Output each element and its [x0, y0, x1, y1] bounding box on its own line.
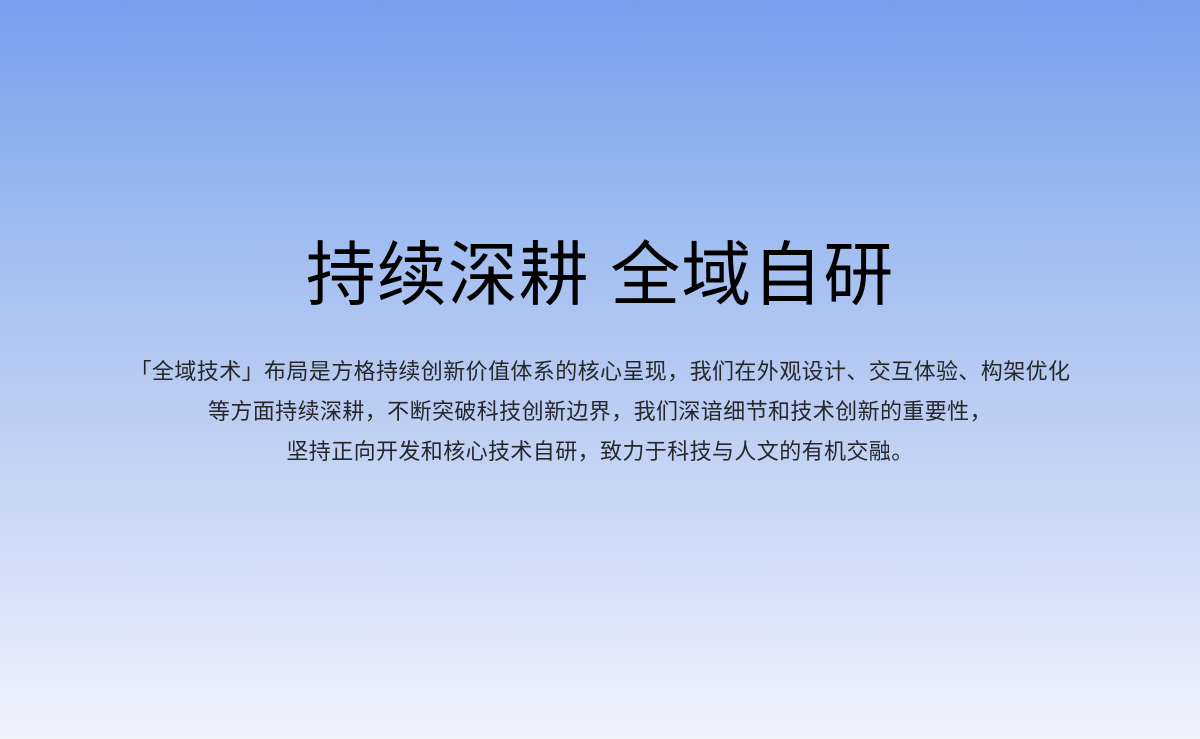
hero-description-line-2: 等方面持续深耕，不断突破科技创新边界，我们深谙细节和技术创新的重要性，	[0, 392, 1200, 432]
hero-section: 持续深耕 全域自研 「全域技术」布局是方格持续创新价值体系的核心呈现，我们在外观…	[0, 0, 1200, 739]
hero-description-line-3: 坚持正向开发和核心技术自研，致力于科技与人文的有机交融。	[0, 432, 1200, 472]
hero-description: 「全域技术」布局是方格持续创新价值体系的核心呈现，我们在外观设计、交互体验、构架…	[0, 352, 1200, 472]
page-title: 持续深耕 全域自研	[0, 240, 1200, 310]
hero-description-line-1: 「全域技术」布局是方格持续创新价值体系的核心呈现，我们在外观设计、交互体验、构架…	[0, 352, 1200, 392]
hero-content: 持续深耕 全域自研 「全域技术」布局是方格持续创新价值体系的核心呈现，我们在外观…	[0, 0, 1200, 472]
